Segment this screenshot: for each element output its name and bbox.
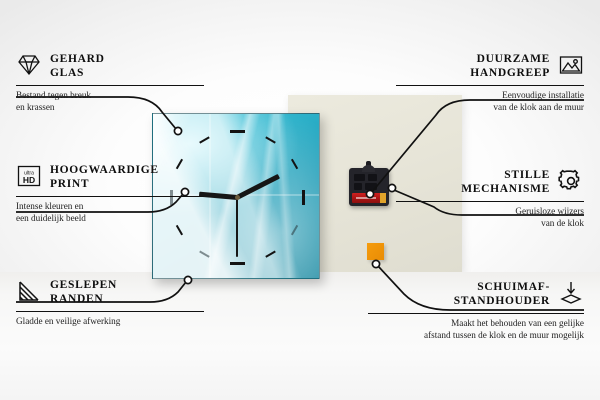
feature-title: STILLE bbox=[461, 168, 550, 182]
feature-geslepen-randen[interactable]: GESLEPEN RANDEN Gladde en veilige afwerk… bbox=[16, 278, 204, 328]
product-infographic: GEHARD GLAS Bestand tegen breuk en krass… bbox=[0, 0, 600, 400]
feature-title-2: MECHANISME bbox=[461, 182, 550, 196]
feature-title: GESLEPEN bbox=[50, 278, 117, 292]
mechanism-hanger bbox=[362, 165, 375, 172]
feature-title: DUURZAME bbox=[470, 52, 550, 66]
gear-icon bbox=[558, 168, 584, 194]
clock-tick bbox=[302, 190, 305, 205]
feature-title-2: HANDGREEP bbox=[470, 66, 550, 80]
feature-desc: Geruisloze wijzers bbox=[396, 206, 584, 218]
feature-title: HOOGWAARDIGE bbox=[50, 163, 159, 177]
divider bbox=[368, 313, 584, 314]
battery-terminal bbox=[380, 193, 386, 203]
mechanism-slot bbox=[365, 183, 377, 190]
clock-tick bbox=[230, 130, 245, 133]
feature-title-2: GLAS bbox=[50, 66, 105, 80]
feature-gehard-glas[interactable]: GEHARD GLAS Bestand tegen breuk en krass… bbox=[16, 52, 204, 113]
spacer-arrow-icon bbox=[558, 280, 584, 306]
mechanism-slot bbox=[368, 174, 377, 181]
feature-hoogwaardige-print[interactable]: ultra HD HOOGWAARDIGE PRINT Intense kleu… bbox=[16, 163, 204, 224]
clock-tick bbox=[230, 262, 245, 265]
feature-duurzame-handgreep[interactable]: DUURZAME HANDGREEP Eenvoudige installati… bbox=[396, 52, 584, 113]
divider bbox=[16, 311, 204, 312]
mechanism-slot bbox=[354, 183, 362, 190]
feature-title: GEHARD bbox=[50, 52, 105, 66]
clock-mechanism bbox=[349, 168, 389, 206]
battery-stripe bbox=[356, 197, 376, 199]
feature-desc: Bestand tegen breuk bbox=[16, 90, 204, 102]
divider bbox=[16, 196, 204, 197]
ultra-hd-icon: ultra HD bbox=[16, 163, 42, 189]
feature-desc-2: een duidelijk beeld bbox=[16, 213, 204, 225]
feature-title: SCHUIMAF- bbox=[454, 280, 550, 294]
feature-desc: Maakt het behouden van een gelijke bbox=[368, 318, 584, 330]
feature-desc-2: van de klok bbox=[396, 218, 584, 230]
feature-desc: Intense kleuren en bbox=[16, 201, 204, 213]
feature-desc-2: afstand tussen de klok en de muur mogeli… bbox=[368, 330, 584, 342]
foam-spacer bbox=[367, 243, 384, 260]
bevelled-edges-icon bbox=[16, 278, 42, 304]
second-hand bbox=[236, 197, 238, 257]
feature-schuimafstandhouder[interactable]: SCHUIMAF- STANDHOUDER Maakt het behouden… bbox=[368, 280, 584, 341]
hand-cap bbox=[235, 195, 240, 200]
feature-desc: Eenvoudige installatie bbox=[396, 90, 584, 102]
feature-desc-2: van de klok aan de muur bbox=[396, 102, 584, 114]
feature-title-2: RANDEN bbox=[50, 292, 117, 306]
divider bbox=[16, 85, 204, 86]
battery bbox=[352, 193, 386, 203]
divider bbox=[396, 201, 584, 202]
svg-text:HD: HD bbox=[23, 175, 35, 185]
feature-title-2: PRINT bbox=[50, 177, 159, 191]
picture-frame-icon bbox=[558, 52, 584, 78]
feature-stille-mechanisme[interactable]: STILLE MECHANISME Geruisloze wijzers van… bbox=[396, 168, 584, 229]
feature-title-2: STANDHOUDER bbox=[454, 294, 550, 308]
divider bbox=[396, 85, 584, 86]
feature-desc-2: en krassen bbox=[16, 102, 204, 114]
diamond-icon bbox=[16, 52, 42, 78]
mechanism-slot bbox=[354, 174, 365, 181]
feature-desc: Gladde en veilige afwerking bbox=[16, 316, 204, 328]
